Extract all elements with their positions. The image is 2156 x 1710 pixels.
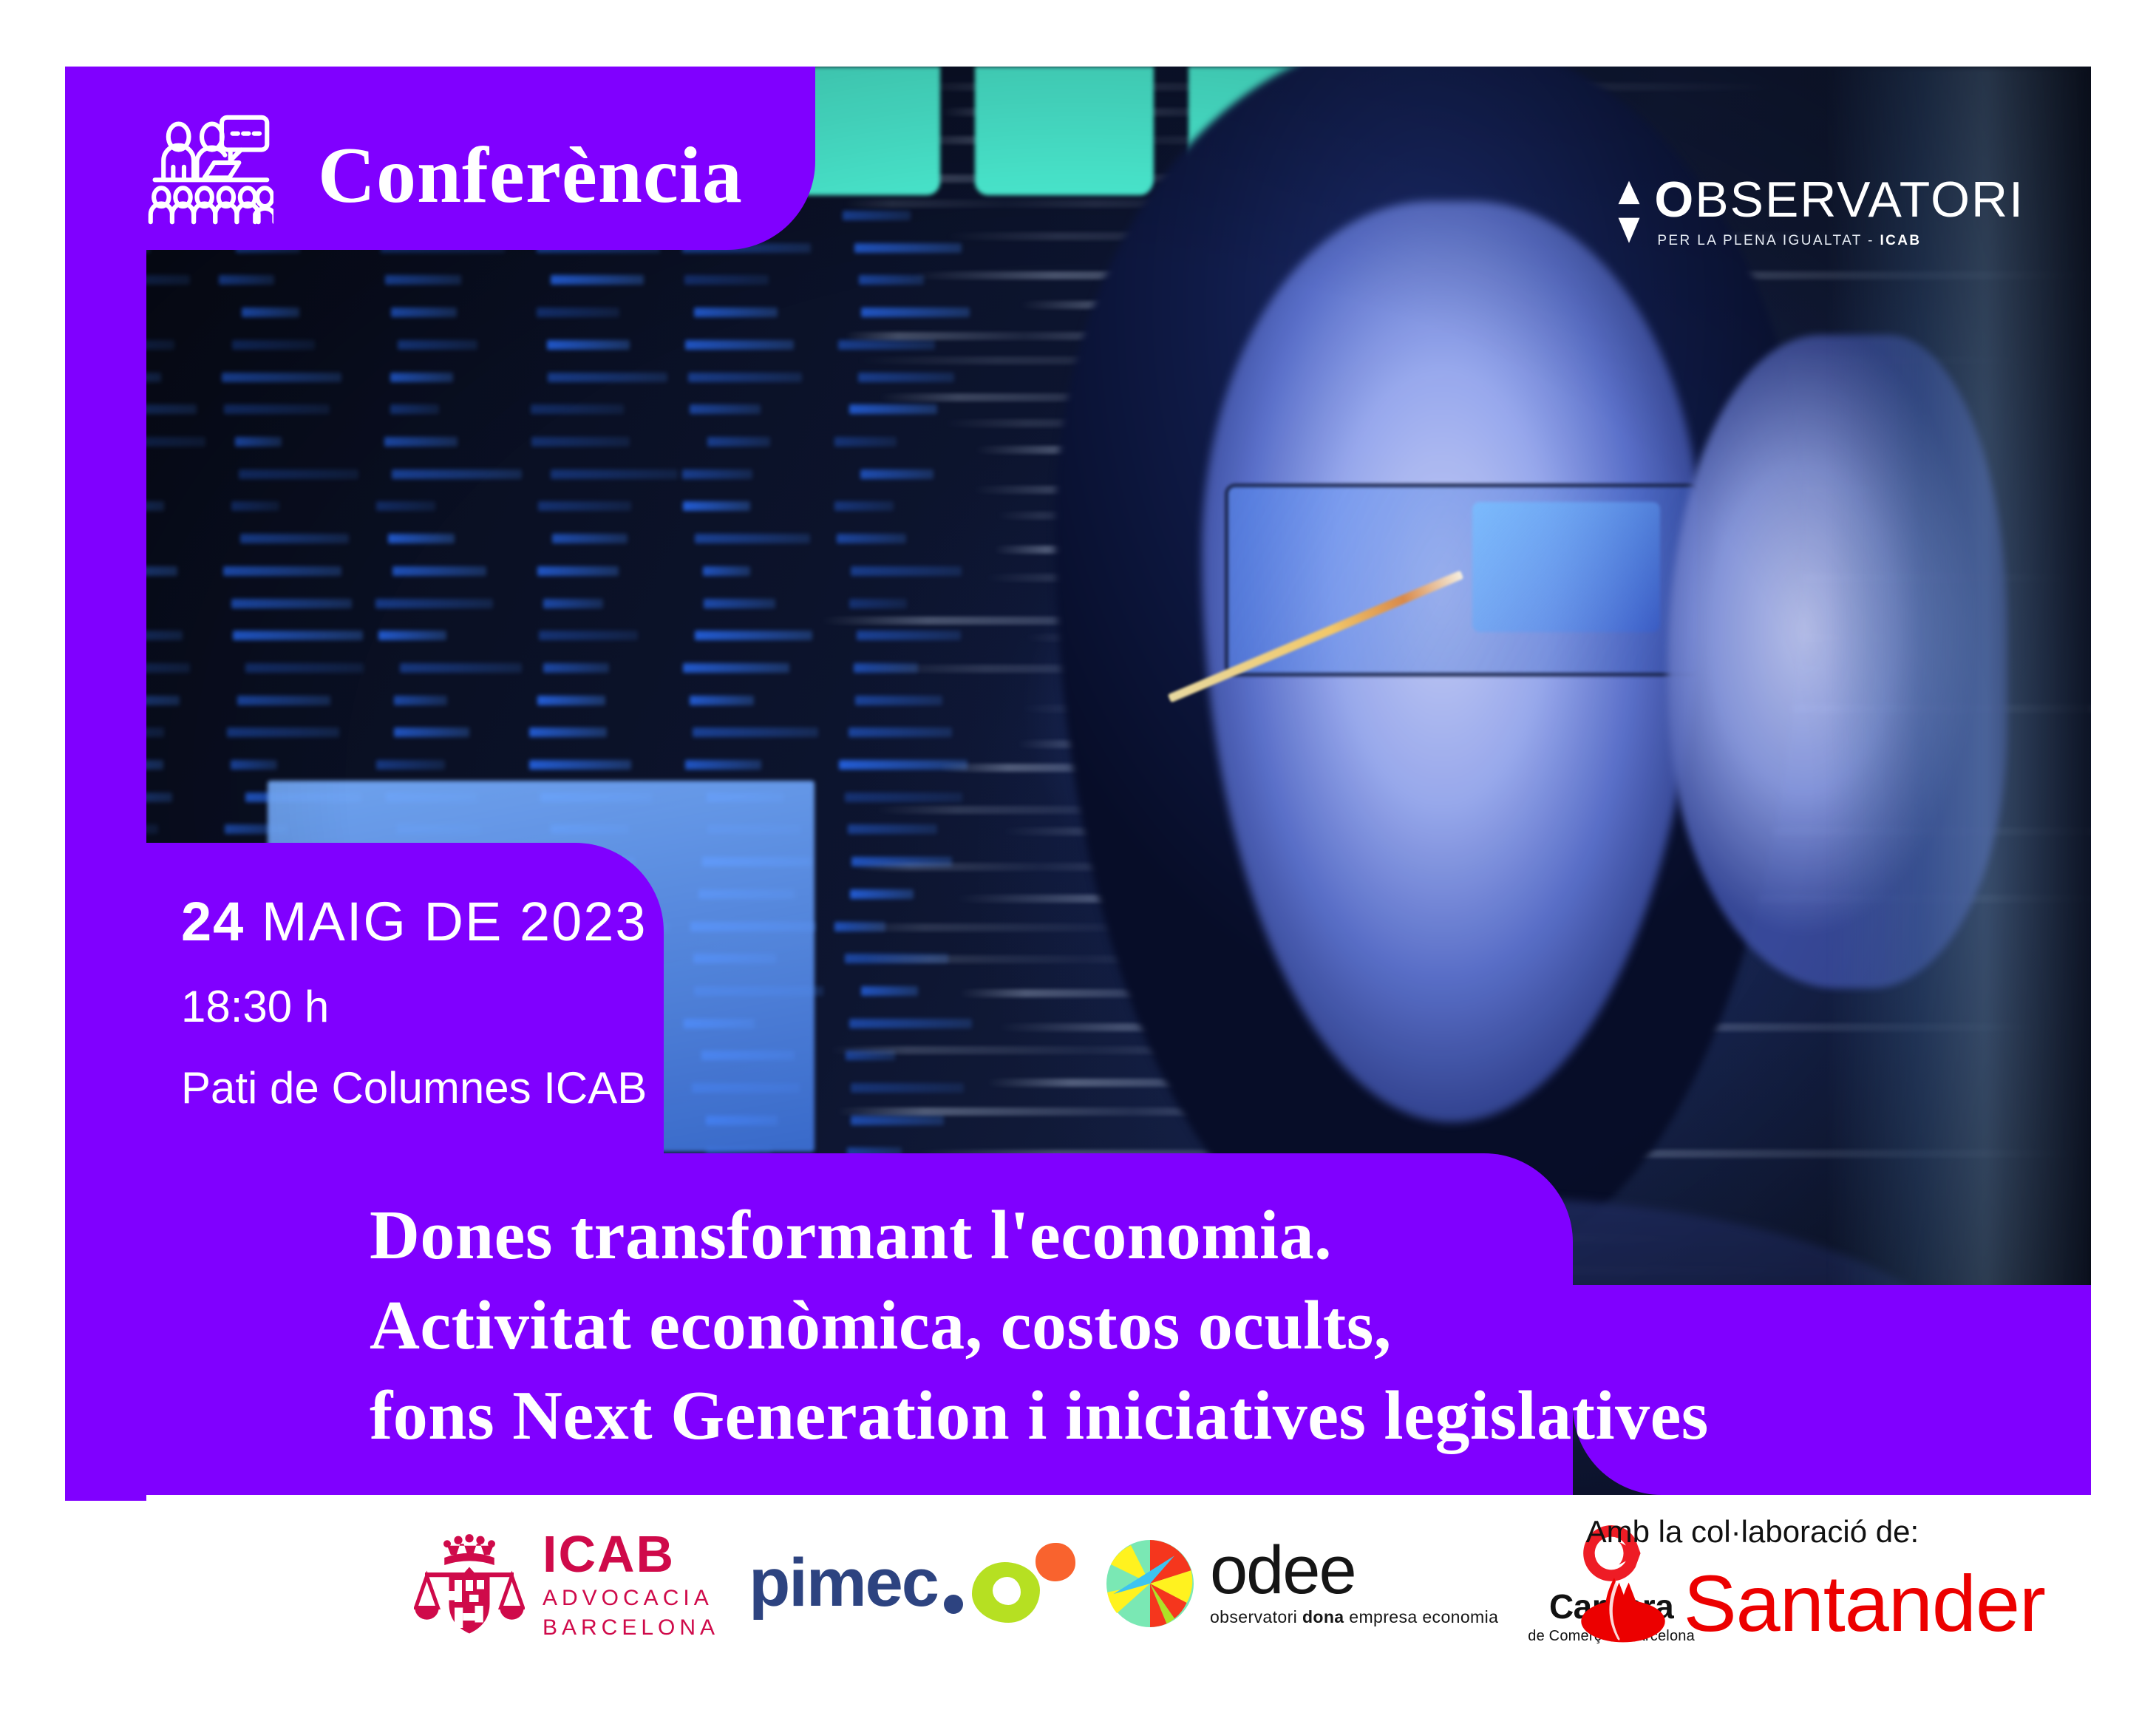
pimec-logo: pimec — [749, 1543, 1077, 1624]
observatori-logo: OBSERVATORI PER LA PLENA IGUALTAT - ICAB — [1614, 176, 2024, 249]
observatori-diamond-icon — [1614, 179, 1644, 247]
icab-crest-scales-icon — [414, 1528, 525, 1639]
page-title: Dones transformant l'economia. Activitat… — [370, 1190, 1951, 1462]
icab-logo: ICAB ADVOCACIA BARCELONA — [414, 1528, 719, 1639]
collaboration-block: Amb la col·laboració de: Santander — [1579, 1514, 2045, 1644]
header: Conferència — [144, 111, 743, 240]
pimec-name: pimec — [749, 1544, 938, 1622]
conference-presentation-icon — [144, 111, 273, 240]
collaboration-label: Amb la col·laboració de: — [1586, 1514, 1919, 1550]
partner-logos: ICAB ADVOCACIA BARCELONA pimec — [414, 1521, 1695, 1645]
title-line-3: fons Next Generation i iniciatives legis… — [370, 1371, 1951, 1461]
pimec-dot-icon — [944, 1595, 963, 1614]
event-time: 18:30 h — [181, 985, 647, 1029]
footer: ICAB ADVOCACIA BARCELONA pimec — [0, 1501, 2156, 1710]
conference-label: Conferència — [318, 136, 743, 216]
odee-tagline: observatori dona empresa economia — [1210, 1607, 1498, 1627]
title-line-2: Activitat econòmica, costos ocults, — [370, 1280, 1951, 1371]
odee-pie-chart-icon — [1106, 1540, 1194, 1627]
odee-name: odee — [1210, 1539, 1498, 1602]
santander-name: Santander — [1684, 1564, 2045, 1643]
icab-subtitle-2: BARCELONA — [543, 1617, 719, 1639]
odee-logo: odee observatori dona empresa economia — [1106, 1539, 1498, 1628]
santander-flame-icon — [1579, 1563, 1667, 1644]
icab-subtitle-1: ADVOCACIA — [543, 1587, 719, 1609]
title-line-1: Dones transformant l'economia. — [370, 1190, 1951, 1280]
observatori-tagline: PER LA PLENA IGUALTAT - ICAB — [1657, 233, 2024, 249]
icab-name: ICAB — [543, 1528, 719, 1580]
observatori-name: OBSERVATORI — [1654, 176, 2024, 224]
santander-logo: Santander — [1579, 1563, 2045, 1644]
event-date: 24 MAIG DE 2023 — [181, 895, 647, 949]
event-details: 24 MAIG DE 2023 18:30 h Pati de Columnes… — [181, 895, 647, 1110]
event-poster: Conferència OBSERVATORI PER LA PLENA IGU… — [0, 0, 2156, 1710]
event-venue: Pati de Columnes ICAB — [181, 1066, 647, 1110]
pimec-blobs-icon — [966, 1543, 1077, 1624]
